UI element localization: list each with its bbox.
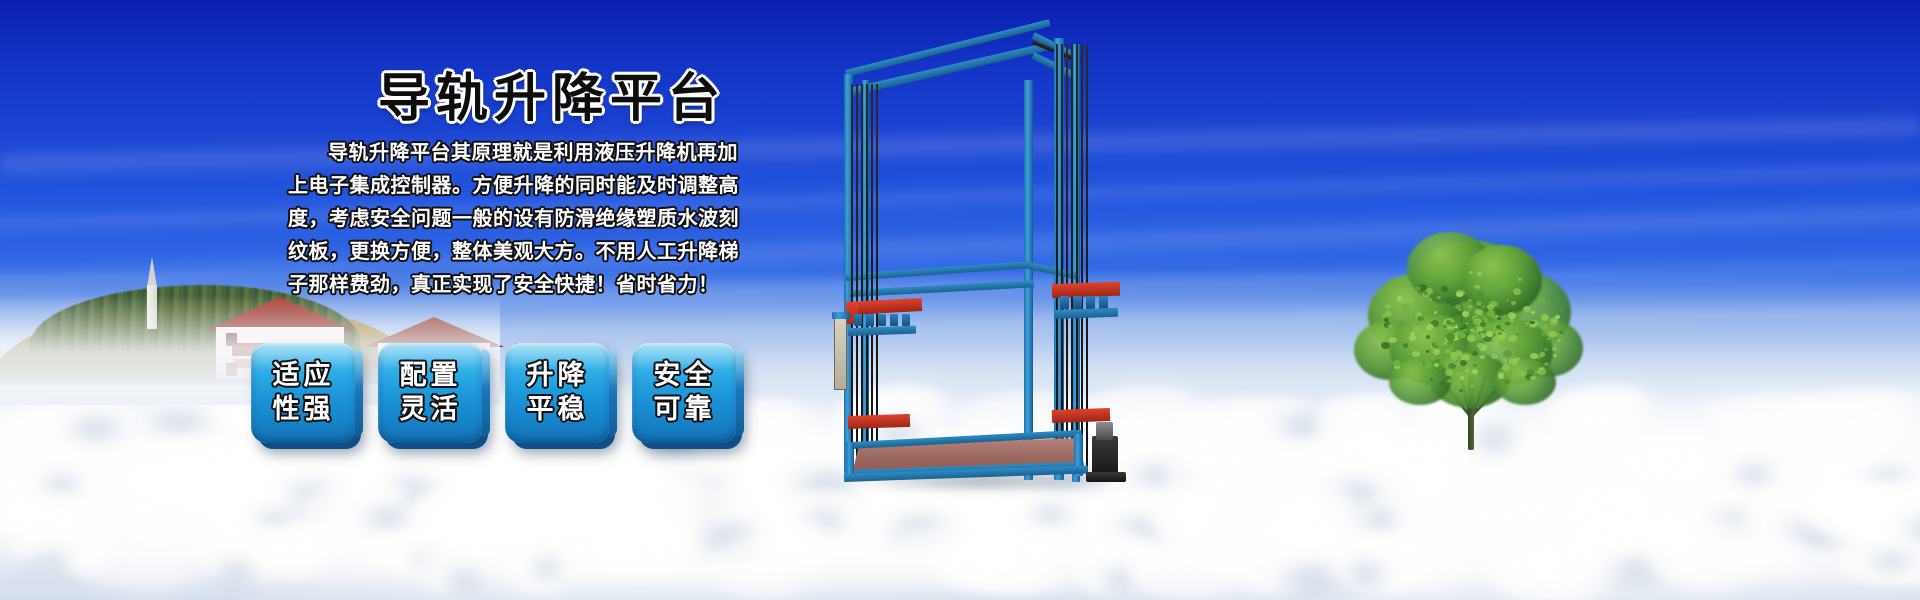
church-spire [147,257,157,287]
tree-leaf [1508,335,1517,342]
cloud-lump [1703,394,1855,438]
cloud-lump [1800,480,1920,544]
feature-label-line2: 可靠 [654,393,716,427]
tree-leaf [1530,376,1536,381]
cloud-lump [10,526,148,567]
mid-cross-beam-rear [846,261,1032,281]
cloud-shadow [1009,504,1092,525]
feature-label-line2: 灵活 [400,393,462,427]
cloud-shadow [1254,563,1371,598]
right-pulley-block [1099,296,1108,309]
tree-leaf [1459,389,1463,392]
tree-leaf [1430,356,1434,359]
cloud-lump [592,523,725,576]
cloud-lump [1209,524,1376,593]
tree-leaf [1472,369,1477,373]
tree-leaf [1413,326,1421,333]
tree-leaf [1500,280,1508,287]
tree-leaf [1475,309,1483,315]
cloud-lump [1265,490,1375,564]
tree-leaf [1403,343,1408,347]
cloud-shadow [114,410,244,433]
cloud-lump [407,481,562,552]
cloud-lump [3,402,156,457]
left-lower-red-stop [848,414,910,429]
control-panel-bracket [832,312,850,319]
tree-leaf [1540,352,1546,356]
cloud-lump [254,524,346,578]
cloud-shadow [1348,508,1414,534]
tree-leaf [1445,297,1452,302]
cloud-lump [582,474,746,519]
tree-leaf [1450,352,1458,358]
cloud-lump [1559,476,1684,550]
tree-leaf [1467,335,1476,342]
tree-leaf [1457,332,1466,339]
tree-leaf [1468,305,1472,308]
left-pulley-block [854,314,862,326]
tree-leaf [1424,359,1430,364]
cloud-shadow [860,514,983,546]
tree-leaf [1473,320,1479,325]
description-text: 导轨升降平台其原理就是利用液压升降机再加上电子集成控制器。方便升降的同时能及时调… [288,136,758,301]
motor-cylinder [1096,422,1113,440]
left-pulley-block [866,314,874,326]
tree-leaf [1424,292,1428,295]
tree-leaf [1435,340,1442,346]
cloud-lump [68,538,232,593]
feature-badge-safety[interactable]: 安全 可靠 [632,343,737,443]
tree-leaf [1456,290,1465,297]
tree-leaf [1460,360,1467,366]
cloud-lump [370,532,461,572]
feature-label-line2: 性强 [273,393,335,427]
cloud-shadow [432,564,499,599]
tree-leaf [1469,350,1473,353]
tree-leaf [1401,304,1410,311]
cloud-shadow [780,508,868,533]
cloud-shadow [234,509,313,535]
cloud-lump [1081,495,1227,561]
cloud-lump [506,494,688,576]
tree-leaf [1559,309,1563,312]
feature-label-line1: 适应 [273,359,335,393]
feature-badge-adaptability[interactable]: 适应 性强 [251,343,356,443]
cloud-lump [763,492,889,543]
cloud-lump [1075,532,1171,600]
tree-leaf [1516,333,1519,336]
feature-label-line1: 升降 [527,359,589,393]
cloud-lump [418,531,514,600]
cloud-lump [135,434,344,517]
tree-leaf [1515,357,1520,361]
tree-leaf [1477,271,1482,275]
tree-leaf [1430,378,1433,381]
cloud-shadow [396,550,460,570]
tree-leaf [1435,359,1439,362]
cloud-shadow [197,559,275,589]
cloud-lump [193,523,304,584]
tree-leaf [1550,296,1555,300]
cloud-shadow [1087,563,1154,598]
tree-leaf [1530,353,1538,359]
cloud-lump [1566,520,1725,576]
cloud-lump [1783,389,1920,443]
tree-leaf [1488,325,1492,328]
tree-leaf [1453,328,1458,332]
cloud-lump [1803,439,1920,497]
feature-badge-configuration[interactable]: 配置 灵活 [378,343,483,443]
tree-leaf [1464,324,1468,327]
cloud-lump [1633,497,1794,552]
tree-leaf [1389,325,1392,328]
cloud-lump [931,531,1100,594]
tree-leaf [1434,363,1439,367]
tree-leaf [1446,333,1455,340]
cloud-shadow [1681,510,1794,538]
cloud-lump [645,484,824,561]
cloud-lump [0,492,140,541]
cloud-shadow [1327,559,1406,589]
cloud-lump [297,485,440,532]
cloud-shadow [637,475,758,514]
left-pulley-block [902,314,910,326]
cloud-lump [343,439,491,515]
cloud-lump [1489,536,1636,600]
tree-leaf [1385,304,1391,309]
cloud-lump [200,486,313,539]
cloud-lump [756,521,843,561]
cloud-shadow [1297,478,1432,520]
right-pulley-block [1086,296,1095,309]
cloud-shadow [1715,462,1791,486]
right-carriage-bar [1054,308,1118,319]
tree-leaf [1418,295,1423,299]
tree-leaf [1514,296,1518,299]
cloud-lump [708,534,841,600]
tree-leaf [1381,342,1390,349]
left-carriage-bar [848,326,916,336]
cloud-shadow [26,471,97,505]
cloud-lump [1724,538,1828,576]
cloud-lump [411,436,617,493]
tree-leaf [1397,296,1403,301]
tree-leaf [1473,364,1477,367]
cloud-shadow [337,506,437,530]
cloud-lump [1840,544,1920,586]
cloud-shadow [364,474,468,512]
cloud-lump [1646,520,1786,590]
cloud-shadow [1846,466,1920,495]
cloud-lump [504,543,590,595]
right-pulley-block [1060,296,1069,309]
promo-banner: 导轨升降平台 导轨升降平台其原理就是利用液压升降机再加上电子集成控制器。方便升降… [0,0,1920,600]
tree-leaf [1445,369,1453,375]
cloud-lump [214,451,363,537]
cloud-lump [1150,495,1249,543]
description-paragraph: 导轨升降平台其原理就是利用液压升降机再加上电子集成控制器。方便升降的同时能及时调… [288,136,758,301]
cloud-lump [111,474,210,546]
cloud-shadow [258,479,362,522]
cloud-lump [517,441,698,528]
tree-leaf [1518,377,1525,383]
tree-leaf [1481,333,1487,337]
tree-leaf [1443,342,1447,345]
cloud-lump [1354,490,1448,541]
tree-leaf [1502,364,1510,371]
tree-leaf [1502,315,1510,322]
cloud-lump [897,524,1016,561]
green-tree [1320,220,1620,450]
cloud-shadow [1091,515,1193,548]
cloud-lump [1333,535,1446,595]
tree-leaf [1541,332,1547,337]
guide-rail-lift-platform [828,18,1128,488]
tree-leaf [1498,372,1504,377]
left-pulley-block [878,314,886,326]
tree-leaf [1539,298,1546,304]
cloud-shadow [517,555,577,581]
tree-leaf [1491,354,1497,359]
tree-leaf [1417,316,1424,322]
tree-leaf [1408,298,1414,303]
tree-leaf [1447,379,1452,383]
tree-leaf [1539,367,1543,370]
tree-leaf [1433,349,1441,355]
tree-leaf [1544,325,1547,328]
tree-leaf [1503,350,1512,357]
tree-leaf [1511,301,1515,305]
right-pulley-block [1073,296,1082,309]
cloud-shadow [42,415,149,442]
tree-leaf [1509,342,1516,348]
tree-leaf [1510,318,1514,321]
feature-badge-list: 适应 性强 配置 灵活 升降 平稳 安全 可靠 [251,343,737,443]
left-pulley-block [890,314,898,326]
cloud-lump [1126,539,1265,599]
cloud-shadow [1845,551,1920,572]
cloud-shadow [1583,557,1694,585]
cloud-shadow [2,551,98,572]
tree-leaf [1555,315,1559,319]
motor-base [1086,472,1126,482]
tree-leaf [1487,304,1494,309]
feature-label-line2: 平稳 [527,393,589,427]
cloud-lump [1163,430,1284,521]
tree-leaf [1450,322,1456,327]
tree-leaf [1440,381,1445,385]
tree-leaf [1541,314,1550,321]
page-title: 导轨升降平台 [378,56,726,131]
tree-leaf [1553,354,1557,357]
tree-leaf [1496,325,1501,329]
feature-label-line1: 配置 [400,359,462,393]
tree-leaf [1416,286,1421,290]
tree-leaf [1462,311,1469,316]
cloud-lump [0,452,79,520]
tree-leaf [1434,311,1437,314]
cloud-shadow [665,520,790,559]
cloud-lump [1463,496,1584,539]
cloud-lump [1391,528,1481,597]
tree-leaf [1446,320,1452,324]
tree-leaf [1426,335,1431,339]
cloud-lump [1684,440,1793,488]
tree-leaf [1393,360,1402,367]
tree-leaf [1460,376,1465,380]
cloud-shadow [1874,514,1920,546]
tree-leaf [1523,306,1531,312]
tree-leaf [1486,331,1493,336]
feature-badge-lifting[interactable]: 升降 平稳 [505,343,610,443]
right-lower-red-stop [1052,408,1110,423]
cloud-lump [1739,487,1920,556]
cloud-lump [1366,442,1490,501]
cloud-lump [665,450,839,529]
tree-leaf [1413,309,1418,313]
cloud-shadow [1751,516,1885,551]
cloud-lump [1611,438,1744,490]
tree-leaf [1385,311,1392,317]
control-panel [834,318,847,390]
feature-label-line1: 安全 [654,359,716,393]
